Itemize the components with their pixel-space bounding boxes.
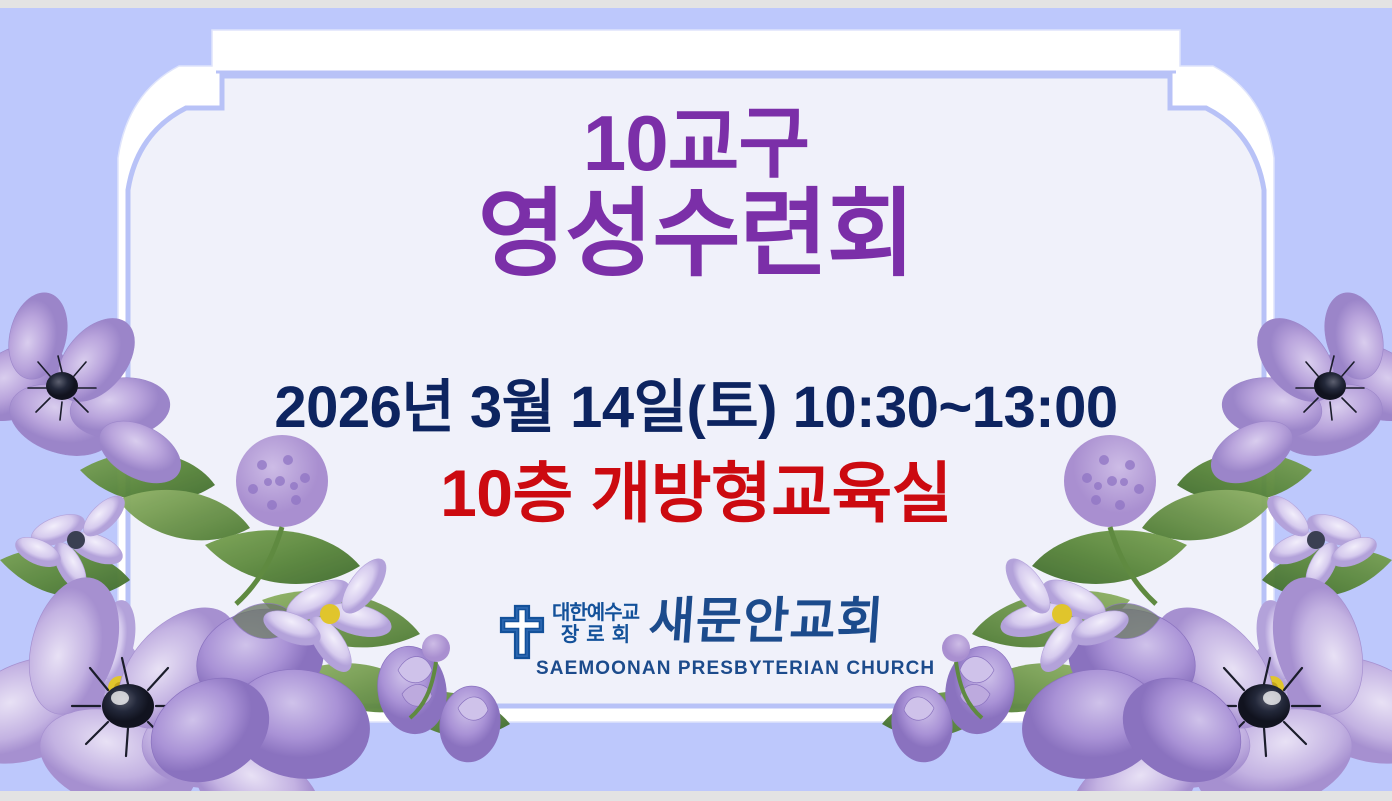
church-name-english: SAEMOONAN PRESBYTERIAN CHURCH — [536, 658, 896, 680]
poster-canvas: 10교구 영성수련회 2026년 3월 14일(토) 10:30~13:00 1… — [0, 0, 1392, 801]
event-location: 10층 개방형교육실 — [0, 440, 1392, 536]
church-name-korean: 새문안교회 — [647, 596, 885, 646]
denomination-text: 대한예수교 장로회 — [552, 602, 639, 647]
cross-icon — [496, 602, 548, 660]
poster-title: 10교구 영성수련회 — [0, 104, 1392, 283]
poster-content: 10교구 영성수련회 2026년 3월 14일(토) 10:30~13:00 1… — [0, 0, 1392, 801]
title-line-1: 10교구 — [0, 104, 1392, 184]
church-logo: 대한예수교 장로회 새문안교회 SAEMOONAN PRESBYTERIAN C… — [496, 600, 896, 684]
denomination-line-2: 장로회 — [552, 624, 639, 646]
event-datetime: 2026년 3월 14일(토) 10:30~13:00 — [0, 360, 1392, 444]
title-line-2: 영성수련회 — [0, 186, 1392, 284]
denomination-line-1: 대한예수교 — [552, 602, 639, 624]
